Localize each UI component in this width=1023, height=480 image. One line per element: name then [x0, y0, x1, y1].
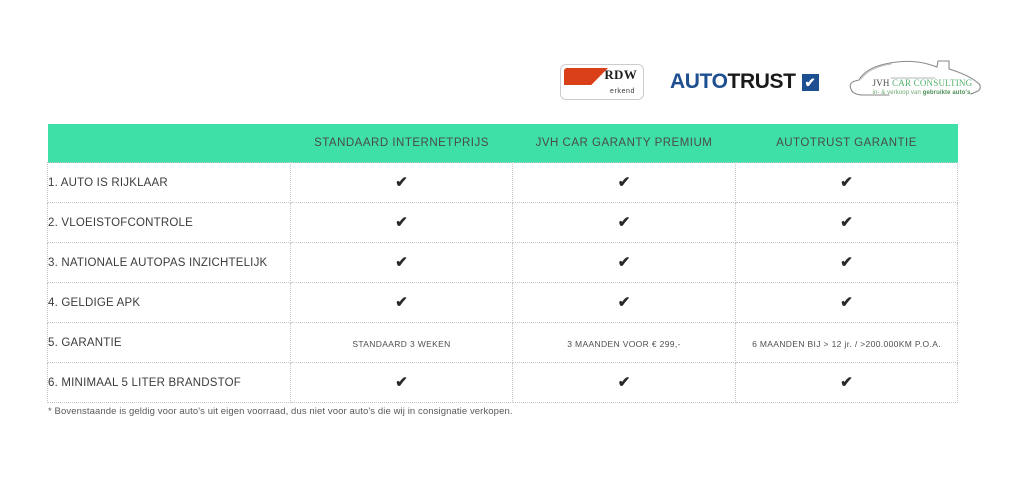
jvh-tagline-prefix: in- & verkoop van: [873, 90, 923, 96]
autotrust-word-auto: AUTO: [670, 70, 728, 93]
cell-check: ✔: [291, 163, 513, 203]
check-icon: ✔: [840, 294, 853, 311]
logo-strip: RDW erkend AUTOTRUST ✔ JVH CAR CONSULTIN…: [560, 56, 970, 108]
table-row: 2. VLOEISTOFCONTROLE✔✔✔: [48, 203, 958, 243]
row-label: 1. AUTO IS RIJKLAAR: [48, 163, 291, 203]
row-label: 6. MINIMAAL 5 LITER BRANDSTOF: [48, 363, 291, 403]
autotrust-checkbox-icon: ✔: [802, 74, 819, 91]
row-label: 3. NATIONALE AUTOPAS INZICHTELIJK: [48, 243, 291, 283]
cell-check: ✔: [736, 203, 958, 243]
table-row: 4. GELDIGE APK✔✔✔: [48, 283, 958, 323]
check-icon: ✔: [618, 294, 631, 311]
cell-value: STANDAARD 3 WEKEN: [352, 339, 450, 349]
autotrust-wordmark: AUTOTRUST: [670, 71, 796, 93]
table-footnote: * Bovenstaande is geldig voor auto's uit…: [48, 406, 513, 417]
table-row: 3. NATIONALE AUTOPAS INZICHTELIJK✔✔✔: [48, 243, 958, 283]
cell-check: ✔: [291, 363, 513, 403]
row-label: 4. GELDIGE APK: [48, 283, 291, 323]
cell-text: 3 MAANDEN VOOR € 299,-: [513, 323, 736, 363]
row-label: 2. VLOEISTOFCONTROLE: [48, 203, 291, 243]
jvh-car-consulting-logo: JVH CAR CONSULTING in- & verkoop van geb…: [845, 58, 985, 106]
check-icon: ✔: [618, 254, 631, 271]
check-icon: ✔: [395, 254, 408, 271]
warranty-comparison-table: STANDAARD INTERNETPRIJS JVH CAR GARANTY …: [47, 124, 958, 403]
row-label: 5. GARANTIE: [48, 323, 291, 363]
jvh-tagline-emphasis: gebruikte auto's.: [923, 90, 972, 96]
table-row: 1. AUTO IS RIJKLAAR✔✔✔: [48, 163, 958, 203]
table-body: 1. AUTO IS RIJKLAAR✔✔✔2. VLOEISTOFCONTRO…: [48, 163, 958, 403]
check-icon: ✔: [395, 214, 408, 231]
check-icon: ✔: [840, 214, 853, 231]
check-icon: ✔: [618, 174, 631, 191]
autotrust-logo: AUTOTRUST ✔: [670, 71, 819, 93]
check-icon: ✔: [840, 254, 853, 271]
check-icon: ✔: [618, 214, 631, 231]
jvh-initials: JVH: [873, 78, 893, 88]
jvh-consulting-words: CAR CONSULTING: [892, 78, 972, 88]
rdw-logo: RDW erkend: [560, 64, 644, 100]
check-icon: ✔: [395, 294, 408, 311]
cell-check: ✔: [291, 283, 513, 323]
table-header-cell-standaard-internetprijs: STANDAARD INTERNETPRIJS: [291, 124, 513, 163]
cell-check: ✔: [291, 243, 513, 283]
jvh-logo-text: JVH CAR CONSULTING in- & verkoop van geb…: [873, 78, 985, 98]
check-icon: ✔: [395, 374, 408, 391]
cell-check: ✔: [736, 363, 958, 403]
rdw-subtitle: erkend: [610, 88, 635, 96]
cell-check: ✔: [513, 363, 736, 403]
rdw-swoosh-icon: [564, 68, 608, 85]
table-header-cell-blank: [48, 124, 291, 163]
table-header: STANDAARD INTERNETPRIJS JVH CAR GARANTY …: [48, 124, 958, 163]
check-icon: ✔: [618, 374, 631, 391]
check-icon: ✔: [840, 374, 853, 391]
cell-check: ✔: [513, 243, 736, 283]
rdw-wordmark: RDW: [604, 68, 637, 82]
cell-check: ✔: [513, 203, 736, 243]
jvh-logo-tagline: in- & verkoop van gebruikte auto's.: [873, 89, 985, 98]
table-row: 6. MINIMAAL 5 LITER BRANDSTOF✔✔✔: [48, 363, 958, 403]
cell-check: ✔: [291, 203, 513, 243]
cell-check: ✔: [736, 163, 958, 203]
cell-value: 6 MAANDEN BIJ > 12 jr. / >200.000KM P.O.…: [752, 339, 941, 349]
cell-check: ✔: [513, 163, 736, 203]
cell-check: ✔: [736, 283, 958, 323]
check-icon: ✔: [840, 174, 853, 191]
table-row: 5. GARANTIESTANDAARD 3 WEKEN3 MAANDEN VO…: [48, 323, 958, 363]
check-icon: ✔: [395, 174, 408, 191]
table-header-row: STANDAARD INTERNETPRIJS JVH CAR GARANTY …: [48, 124, 958, 163]
table-header-cell-autotrust-garantie: AUTOTRUST GARANTIE: [736, 124, 958, 163]
autotrust-word-trust: TRUST: [728, 70, 796, 93]
cell-text: 6 MAANDEN BIJ > 12 jr. / >200.000KM P.O.…: [736, 323, 958, 363]
cell-value: 3 MAANDEN VOOR € 299,-: [567, 339, 681, 349]
jvh-logo-title: JVH CAR CONSULTING: [873, 78, 985, 89]
cell-text: STANDAARD 3 WEKEN: [291, 323, 513, 363]
table-header-cell-jvh-car-garanty-premium: JVH CAR GARANTY PREMIUM: [513, 124, 736, 163]
cell-check: ✔: [513, 283, 736, 323]
cell-check: ✔: [736, 243, 958, 283]
